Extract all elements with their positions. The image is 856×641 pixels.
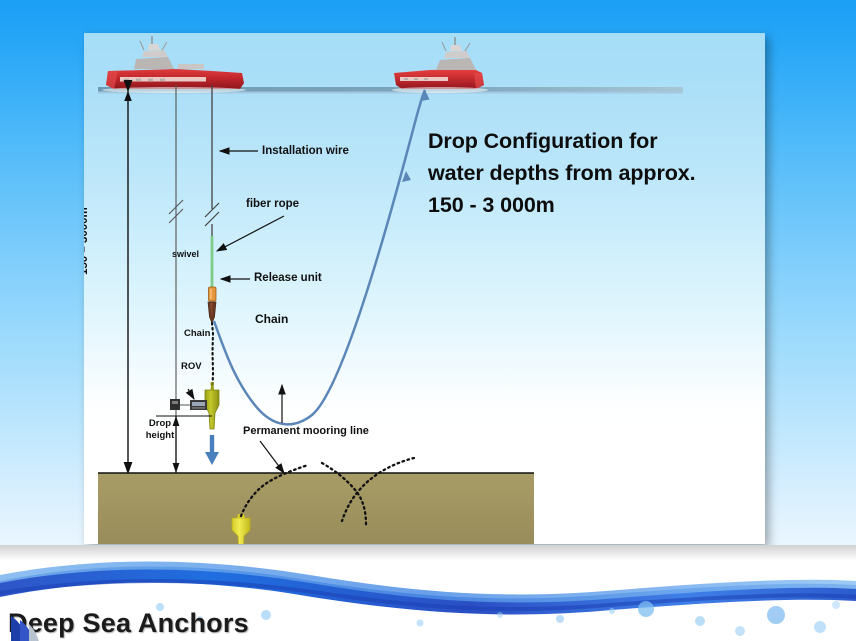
release-unit-component xyxy=(208,302,216,323)
chain-dotted-segment xyxy=(212,323,213,389)
diagram-panel: Drop Configuration for water depths from… xyxy=(84,33,765,544)
slide-background: Drop Configuration for water depths from… xyxy=(0,0,856,641)
installation-wire xyxy=(205,85,219,238)
label-depth-range: 150 – 3000m xyxy=(84,207,90,275)
drop-height-line-1: Drop xyxy=(149,418,171,429)
swivel-component xyxy=(209,287,217,301)
label-chain-main: Chain xyxy=(255,312,288,326)
title-line-3: 150 - 3 000m xyxy=(428,193,555,217)
chain-catenary-curve xyxy=(214,90,430,424)
suspended-anchor xyxy=(205,382,219,429)
depth-dimension-line xyxy=(124,91,132,473)
logo-wordmark: Deep Sea Anchors xyxy=(8,610,249,637)
label-installation-wire: Installation wire xyxy=(262,145,349,157)
drop-height-line-2: height xyxy=(146,430,175,441)
page-title: Drop Configuration for water depths from… xyxy=(428,126,765,221)
label-rov: ROV xyxy=(181,361,202,372)
title-line-2: water depths from approx. xyxy=(428,161,696,185)
drop-arrow xyxy=(205,435,219,465)
label-release-unit: Release unit xyxy=(254,272,322,284)
label-swivel: swivel xyxy=(172,249,199,259)
label-drop-height: Drop height xyxy=(143,418,177,442)
vessel-left xyxy=(102,36,246,93)
reference-line xyxy=(169,85,183,473)
label-chain-secondary: Chain xyxy=(184,328,210,339)
label-permanent-mooring-line: Permanent mooring line xyxy=(243,425,369,437)
seabed-layer xyxy=(98,473,534,544)
title-line-1: Drop Configuration for xyxy=(428,129,657,153)
footer-band: Deep Sea Anchors xyxy=(0,545,856,641)
vessel-right xyxy=(392,37,488,93)
brand-logo[interactable]: Deep Sea Anchors xyxy=(8,610,249,637)
sail-anchor-mark xyxy=(8,610,44,641)
drop-configuration-diagram xyxy=(84,33,765,544)
label-fiber-rope: fiber rope xyxy=(246,198,299,210)
